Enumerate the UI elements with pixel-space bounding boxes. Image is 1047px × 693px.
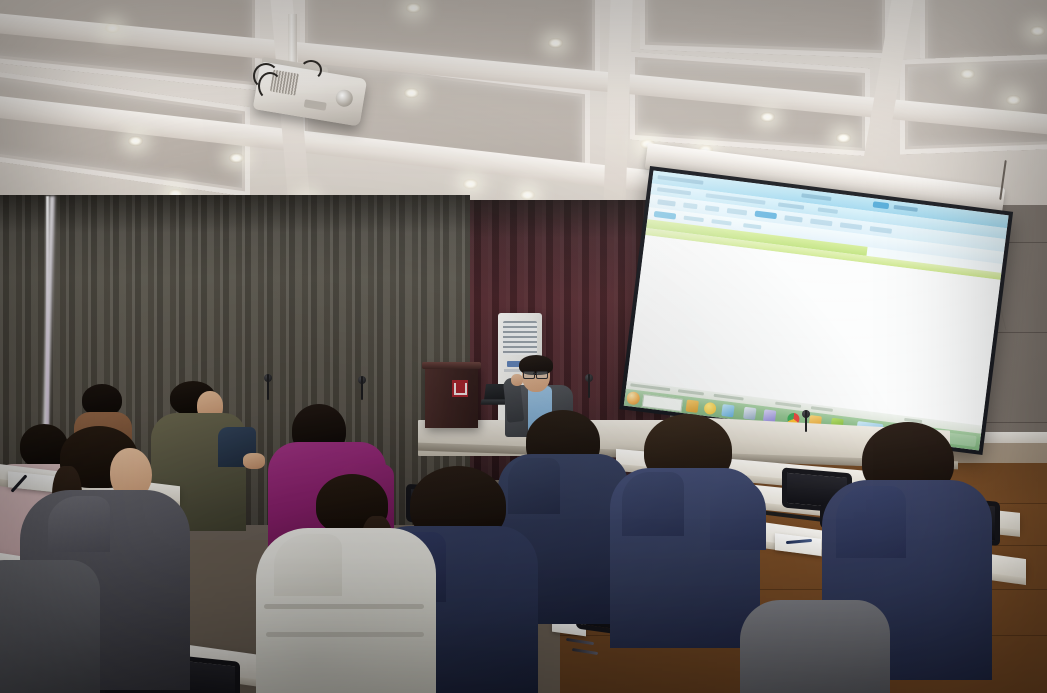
presenter-hand — [511, 374, 523, 386]
gooseneck-microphone — [264, 374, 272, 400]
recessed-downlight — [1030, 26, 1045, 36]
ceiling-coffer — [640, 0, 890, 58]
gooseneck-microphone — [585, 374, 593, 398]
projector-mount-pole — [288, 14, 297, 66]
recessed-downlight — [1006, 95, 1021, 105]
gooseneck-microphone — [358, 376, 366, 400]
glasses-icon — [523, 371, 548, 377]
recessed-downlight — [105, 23, 120, 33]
gooseneck-microphone — [802, 410, 810, 432]
meeting-room-photo — [0, 0, 1047, 693]
curtain-shadow — [0, 195, 470, 233]
curtain-shadow — [470, 200, 670, 238]
media-player-icon[interactable] — [703, 402, 716, 415]
recessed-downlight — [520, 190, 535, 200]
recessed-downlight — [548, 38, 563, 48]
projector-lens — [334, 88, 354, 108]
recessed-downlight — [960, 69, 975, 79]
taskbar-search-input[interactable] — [642, 394, 683, 412]
screen-surface — [624, 170, 1009, 450]
paint-icon[interactable] — [721, 404, 734, 417]
projection-screen — [619, 166, 1013, 455]
projector-cable — [300, 60, 322, 80]
recessed-downlight — [760, 112, 775, 122]
ac-vent-louvers — [503, 321, 537, 355]
recessed-downlight — [229, 153, 244, 163]
recessed-downlight — [836, 133, 851, 143]
recessed-downlight — [404, 88, 419, 98]
wooden-podium — [425, 366, 478, 428]
recessed-downlight — [463, 179, 478, 189]
document-icon[interactable] — [743, 407, 756, 420]
projector-cable — [258, 72, 282, 100]
folder-icon[interactable] — [686, 399, 699, 412]
recessed-downlight — [128, 136, 143, 146]
podium-top — [422, 362, 481, 369]
start-orb-icon[interactable] — [626, 391, 641, 406]
recessed-downlight — [406, 3, 421, 13]
podium-logo — [452, 380, 468, 397]
